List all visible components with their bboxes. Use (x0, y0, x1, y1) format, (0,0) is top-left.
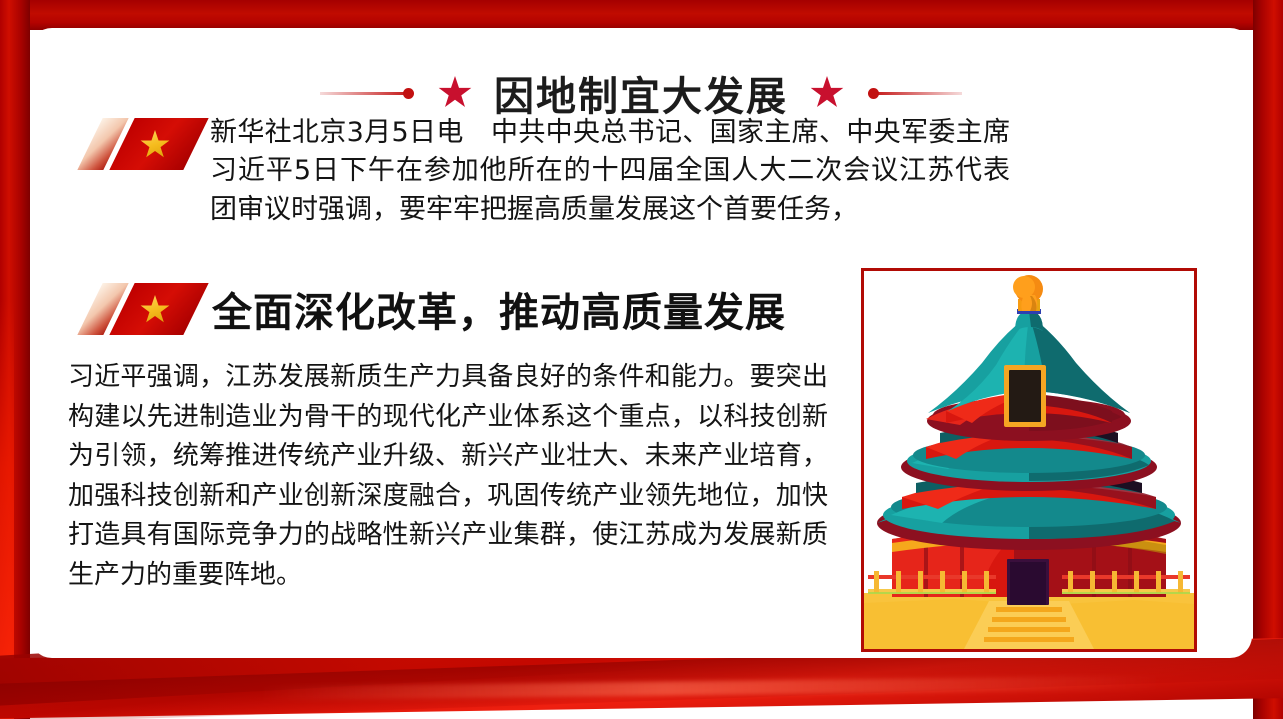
lead-paragraph-block: 新华社北京3月5日电 中共中央总书记、国家主席、中央军委主席习近平5日下午在参加… (88, 118, 1048, 229)
lead-paragraph-text: 新华社北京3月5日电 中共中央总书记、国家主席、中央军委主席习近平5日下午在参加… (210, 114, 1010, 229)
title-rule-dot-left (403, 88, 414, 99)
content-card: 因地制宜大发展 新华社北京3月5日电 中共中央总书记、国家主席、中央军委主席习近… (30, 28, 1252, 658)
star-icon-right (810, 76, 844, 110)
temple-of-heaven-icon (864, 271, 1194, 649)
star-icon-left (438, 76, 472, 110)
title-rule-left (320, 92, 412, 95)
flag-badge-heading (88, 283, 196, 335)
flag-badge-lead (88, 118, 196, 170)
title-rule-dot-right (868, 88, 879, 99)
frame-top-border (0, 0, 1283, 30)
body-paragraph-text: 习近平强调，江苏发展新质生产力具备良好的条件和能力。要突出构建以先进制造业为骨干… (68, 358, 828, 595)
title-rule-right (870, 92, 962, 95)
slide-root: 因地制宜大发展 新华社北京3月5日电 中共中央总书记、国家主席、中央军委主席习近… (0, 0, 1283, 719)
temple-image-frame (861, 268, 1197, 652)
frame-right-border (1253, 0, 1283, 719)
section-heading-text: 全面深化改革，推动高质量发展 (212, 280, 786, 338)
section-heading-block: 全面深化改革，推动高质量发展 (88, 280, 786, 338)
